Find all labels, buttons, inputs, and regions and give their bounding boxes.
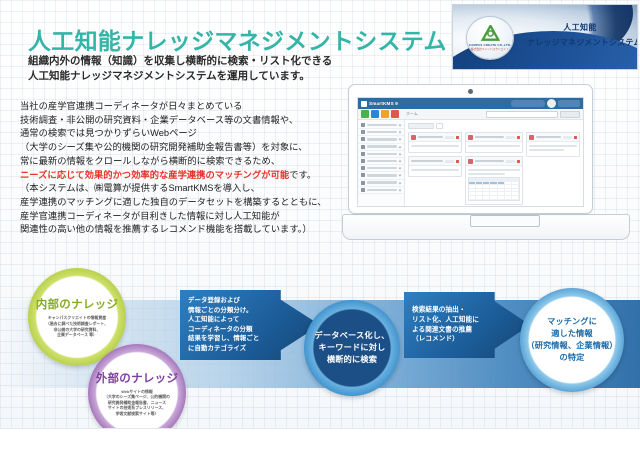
logo-caption-jp: 株式会社キャンパスクリエイト: [471, 47, 509, 51]
help-icon: [361, 188, 365, 192]
close-icon[interactable]: [456, 160, 459, 163]
banner-title-line-2: ナレッジマネジメントシステム: [527, 37, 633, 48]
list-icon: [361, 130, 365, 134]
dashboard-column: [465, 132, 523, 205]
sidebar-item[interactable]: [358, 122, 404, 129]
app-toolbar: ホーム: [358, 109, 583, 120]
card-calendar[interactable]: [465, 156, 523, 205]
card-favorite-documents[interactable]: [465, 132, 523, 153]
dashboard-column: [526, 132, 580, 205]
chevron-down-icon: [399, 138, 402, 141]
company-logo-icon: CAMPUS CREATE CO.,LTD. 株式会社キャンパスクリエイト: [467, 17, 513, 59]
copy-line: 関連性の高い他の情報を推薦するレコメンド機能を搭載しています。）: [20, 223, 350, 237]
bottom-band: [0, 428, 640, 454]
copy-line: （本システムは、㈱電算が提供するSmartKMSを導入し、: [20, 182, 350, 196]
chevron-down-icon: [399, 167, 402, 170]
sidebar-item[interactable]: [358, 158, 404, 165]
star-icon: [468, 135, 473, 140]
chart-icon: [361, 173, 365, 177]
clock-icon: [468, 159, 473, 164]
body-copy: 当社の産学官連携コーディネータが日々まとめている 技術調査・非公開の研究資料・企…: [20, 100, 350, 237]
arrow-categorize: データ登録および 情報ごとの分類分け。 人工知能によって コーディネータの分類 …: [180, 290, 320, 360]
arrow-caption: 検索結果の抽出・ リスト化、人工知能に よる関連文書の推薦 （レコメンド）: [412, 305, 479, 344]
toolbar-button-orange[interactable]: [381, 110, 389, 118]
triangle-logo-glyph: [481, 25, 500, 42]
card-bulletin-board[interactable]: [408, 156, 462, 177]
gear-icon: [361, 181, 365, 185]
app-window-title: SmartKMS 9: [369, 101, 398, 106]
close-icon[interactable]: [574, 136, 577, 139]
node-description: キャンパスクリエイトの情報資産 （過去に調べた技術調査レポート、 非公開の大学の…: [35, 315, 119, 337]
sidebar-item[interactable]: [358, 129, 404, 136]
copy-line: 技術調査・非公開の研究資料・企業データベース等の文書情報や、: [20, 114, 350, 128]
copy-line: 当社の産学官連携コーディネータが日々まとめている: [20, 100, 350, 114]
node-title: 外部のナレッジ: [96, 370, 179, 386]
highlight-tail: です。: [289, 170, 316, 180]
laptop-mockup: SmartKMS 9 ホーム: [348, 84, 640, 234]
webcam-icon: [468, 89, 473, 94]
chevron-down-icon: [399, 188, 402, 191]
search-button[interactable]: [560, 111, 580, 118]
highlight-text: ニーズに応じて効果的かつ効率的な産学連携のマッチングが可能: [20, 170, 289, 180]
calendar-icon: [361, 166, 365, 170]
page-title: 人工知能ナレッジマネジメントシステム: [28, 22, 447, 56]
chevron-down-icon: [399, 181, 402, 184]
node-label: マッチングに 適した情報 （研究情報、企業情報） の特定: [526, 316, 617, 364]
board-icon: [361, 159, 365, 163]
lede-line-1: 組織内外の情報（知識）を収集し横断的に検索・リスト化できる: [28, 54, 332, 69]
poster-canvas: 人工知能ナレッジマネジメントシステム 組織内外の情報（知識）を収集し横断的に検索…: [0, 0, 640, 454]
sidebar-item[interactable]: [358, 180, 404, 187]
chevron-down-icon: [399, 160, 402, 163]
app-header-menu[interactable]: [511, 100, 545, 107]
app-logo-icon: [361, 101, 367, 107]
arrow-caption: データ登録および 情報ごとの分類分け。 人工知能によって コーディネータの分類 …: [188, 296, 259, 354]
copy-line: （大学のシーズ集や公的機関の研究開発補助金報告書等）を対象に、: [20, 141, 350, 155]
copy-line: 産学官連携コーディネータが目利きした情報に対し人工知能が: [20, 210, 350, 224]
dashboard-column: [408, 132, 462, 205]
toolbar-button-blue[interactable]: [371, 110, 379, 118]
app-sidebar: [358, 120, 405, 207]
copy-line: 通常の検索では見つかりずらいWebページ: [20, 127, 350, 141]
toolbar-button-red[interactable]: [391, 110, 399, 118]
breadcrumb: ホーム: [406, 111, 418, 117]
app-body: [358, 120, 583, 207]
node-title: 内部のナレッジ: [36, 296, 119, 312]
bell-icon: [361, 152, 365, 156]
sidebar-item[interactable]: [358, 144, 404, 151]
tab-add-button[interactable]: [436, 123, 443, 129]
node-description: Webサイトの情報 （大学のシーズ集ページ、公的機関の 研究開発補助金報告書、ニ…: [94, 389, 180, 417]
chevron-down-icon: [399, 174, 402, 177]
lede-line-2: 人工知能ナレッジマネジメントシステムを運用しています。: [28, 69, 332, 84]
bookmark-icon: [361, 137, 365, 141]
copy-line-highlight: ニーズに応じて効果的かつ効率的な産学連携のマッチングが可能です。: [20, 169, 350, 183]
document-icon: [411, 135, 416, 140]
sidebar-item[interactable]: [358, 187, 404, 194]
logo-banner: CAMPUS CREATE CO.,LTD. 株式会社キャンパスクリエイト 人工…: [452, 4, 638, 70]
user-icon: [361, 123, 365, 127]
laptop-trackpad: [470, 215, 540, 227]
laptop-lid: SmartKMS 9 ホーム: [348, 84, 593, 214]
sidebar-item[interactable]: [358, 165, 404, 172]
mini-calendar[interactable]: [468, 177, 520, 201]
card-latest-uploads[interactable]: [526, 132, 580, 157]
app-user-menu[interactable]: [558, 100, 580, 107]
copy-line: 産学連携のマッチングに適した独自のデータセットを構築するとともに、: [20, 196, 350, 210]
sidebar-item[interactable]: [358, 151, 404, 158]
sidebar-item[interactable]: [358, 136, 404, 143]
upload-icon: [529, 135, 534, 140]
close-icon[interactable]: [517, 136, 520, 139]
flow-node-matching: マッチングに 適した情報 （研究情報、企業情報） の特定: [520, 288, 624, 392]
copy-line: 常に最新の情報をクロールしながら横断的に検索できるため、: [20, 155, 350, 169]
app-titlebar: SmartKMS 9: [358, 98, 583, 109]
card-recent-documents[interactable]: [408, 132, 462, 153]
page-lede: 組織内外の情報（知識）を収集し横断的に検索・リスト化できる 人工知能ナレッジマネ…: [28, 54, 332, 84]
node-label: データベース化し、 キーワードに対し 横断的に検索: [314, 330, 389, 366]
banner-title: 人工知能 ナレッジマネジメントシステム: [527, 22, 633, 48]
chevron-down-icon: [399, 145, 402, 148]
laptop-screen: SmartKMS 9 ホーム: [357, 97, 584, 207]
chevron-down-icon: [399, 124, 402, 127]
app-main-content: [405, 120, 583, 207]
dashboard-grid: [408, 132, 580, 205]
chevron-down-icon: [399, 152, 402, 155]
close-icon[interactable]: [517, 160, 520, 163]
toolbar-button-green[interactable]: [361, 110, 369, 118]
close-icon[interactable]: [456, 136, 459, 139]
sidebar-item[interactable]: [358, 172, 404, 179]
avatar[interactable]: [547, 99, 556, 108]
flow-node-database: データベース化し、 キーワードに対し 横断的に検索: [304, 300, 400, 396]
banner-title-line-1: 人工知能: [527, 22, 633, 33]
search-input[interactable]: [486, 111, 558, 118]
chevron-down-icon: [399, 131, 402, 134]
tab-bar: [408, 123, 580, 129]
arrow-recommend: 検索結果の抽出・ リスト化、人工知能に よる関連文書の推薦 （レコメンド）: [404, 292, 530, 358]
task-icon: [361, 145, 365, 149]
tab-home[interactable]: [408, 123, 434, 129]
